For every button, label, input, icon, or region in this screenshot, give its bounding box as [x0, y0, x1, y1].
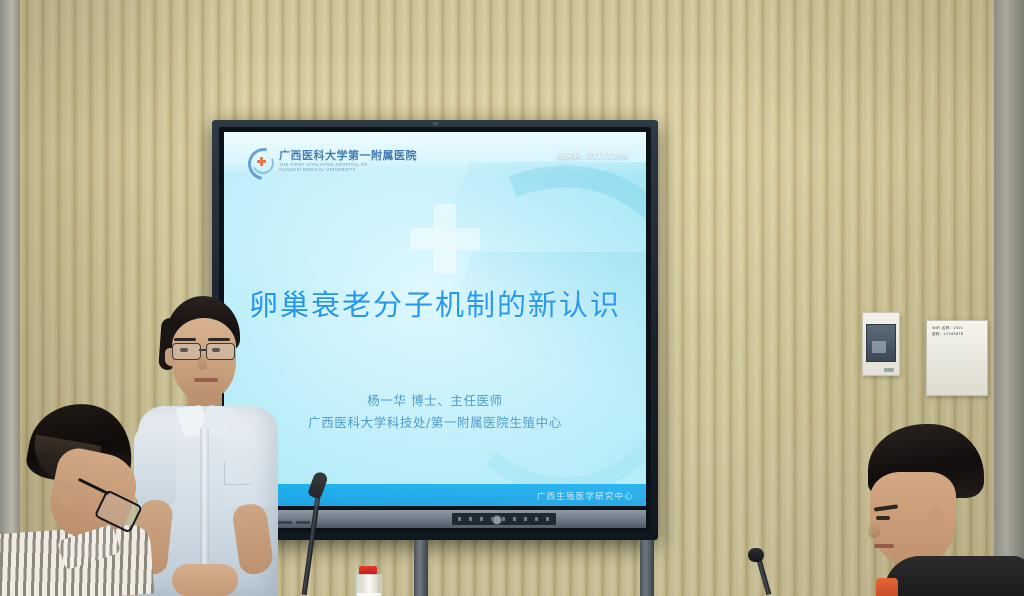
- hospital-logo-icon: [248, 148, 274, 174]
- intercom-screen: [866, 324, 896, 362]
- speaker-lens-right: [206, 343, 235, 360]
- display-stand-left: [414, 540, 428, 596]
- seated-right-eye: [876, 516, 890, 520]
- hospital-name-cn: 广西医科大学第一附属医院: [279, 150, 417, 162]
- person-seated-left: [0, 404, 164, 596]
- speaker-mouth: [194, 378, 218, 382]
- display-screen[interactable]: 广西医科大学第一附属医院 THE FIRST AFFILIATED HOSPIT…: [224, 132, 646, 506]
- slide-subtitle-line-1: 杨一华 博士、主任医师: [224, 390, 646, 412]
- speaker-brow-left: [174, 338, 196, 341]
- bottle-body: [356, 574, 382, 596]
- cast-code-label: 投屏码: 01111166: [557, 150, 628, 161]
- speaker-hands: [172, 564, 238, 596]
- display-power-knob[interactable]: [492, 515, 502, 525]
- slide-title: 卵巢衰老分子机制的新认识: [224, 282, 646, 324]
- speaker-nose: [198, 354, 207, 370]
- person-seated-right: [854, 424, 1024, 596]
- hospital-logo-text: 广西医科大学第一附属医院 THE FIRST AFFILIATED HOSPIT…: [279, 150, 417, 173]
- wifi-password-line: 密码：12345678: [932, 331, 982, 337]
- water-bottle[interactable]: [356, 566, 380, 596]
- slide-subtitle-line-2: 广西医科大学科技处/第一附属医院生殖中心: [224, 412, 646, 434]
- speaker-shirt-pocket: [224, 462, 251, 485]
- display-sensor-dot: [433, 122, 438, 125]
- speaker-lens-left: [172, 343, 201, 360]
- seated-right-nose: [868, 522, 880, 538]
- presentation-slide[interactable]: 广西医科大学第一附属医院 THE FIRST AFFILIATED HOSPIT…: [224, 132, 646, 506]
- display-stand-right: [640, 540, 654, 596]
- slide-subtitle: 杨一华 博士、主任医师 广西医科大学科技处/第一附属医院生殖中心: [224, 390, 646, 434]
- wall-intercom-panel[interactable]: [862, 312, 900, 376]
- display-control-strip[interactable]: [224, 510, 646, 528]
- speaker-brow-right: [208, 338, 230, 341]
- seated-right-dark-shirt: [884, 556, 1024, 596]
- seated-right-mouth: [874, 544, 894, 548]
- wifi-info-sign: WIFI 名称：1501 密码：12345678: [926, 320, 988, 396]
- orange-object-right: [876, 578, 898, 596]
- intercom-led: [884, 368, 894, 372]
- logo-cross-icon: [257, 157, 266, 166]
- hospital-name-en-2: GUANGXI MEDICAL UNIVERSITY: [279, 167, 417, 172]
- slide-watermark-label: 广西生殖医学研究中心: [537, 490, 634, 502]
- screenshot-stage: WIFI 名称：1501 密码：12345678: [0, 0, 1024, 596]
- hospital-logo: 广西医科大学第一附属医院 THE FIRST AFFILIATED HOSPIT…: [248, 148, 417, 174]
- microphone-head-right[interactable]: [748, 548, 764, 562]
- speaker-glasses-bridge: [199, 349, 206, 351]
- intercom-glare: [872, 341, 886, 353]
- medical-cross-icon: [410, 204, 480, 274]
- display-buttons[interactable]: [458, 517, 550, 521]
- seated-right-ear: [930, 510, 946, 534]
